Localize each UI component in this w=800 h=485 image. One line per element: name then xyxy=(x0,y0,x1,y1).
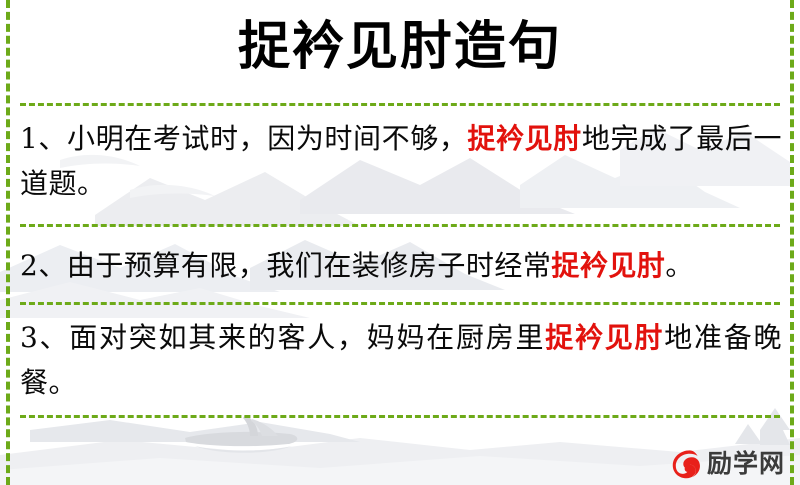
example-sentence-1: 1、小明在考试时，因为时间不够，捉衿见肘地完成了最后一道题。 xyxy=(20,116,782,206)
sentence-2-suffix: 。 xyxy=(665,249,694,282)
sentence-2-keyword: 捉衿见肘 xyxy=(551,249,665,282)
red-swirl-flame-icon xyxy=(668,447,702,481)
page-title: 捉衿见肘造句 xyxy=(0,12,800,82)
site-logo-text: 励学网 xyxy=(707,447,785,481)
site-logo[interactable]: 励学网 xyxy=(668,446,785,482)
sentence-2-prefix: 2、由于预算有限，我们在装修房子时经常 xyxy=(20,249,551,282)
sentence-3-prefix: 3、面对突如其来的客人，妈妈在厨房里 xyxy=(20,321,545,354)
sentence-1-prefix: 1、小明在考试时，因为时间不够， xyxy=(20,122,467,155)
divider-4 xyxy=(20,415,780,418)
example-sentence-3: 3、面对突如其来的客人，妈妈在厨房里捉衿见肘地准备晚餐。 xyxy=(20,315,782,405)
example-sentence-2: 2、由于预算有限，我们在装修房子时经常捉衿见肘。 xyxy=(20,243,782,288)
divider-2 xyxy=(20,224,780,227)
sentence-3-keyword: 捉衿见肘 xyxy=(545,321,664,354)
sentence-1-keyword: 捉衿见肘 xyxy=(467,122,581,155)
divider-3 xyxy=(20,302,780,305)
divider-1 xyxy=(20,103,780,106)
slide-canvas: 捉衿见肘造句 1、小明在考试时，因为时间不够，捉衿见肘地完成了最后一道题。 2、… xyxy=(0,0,800,485)
